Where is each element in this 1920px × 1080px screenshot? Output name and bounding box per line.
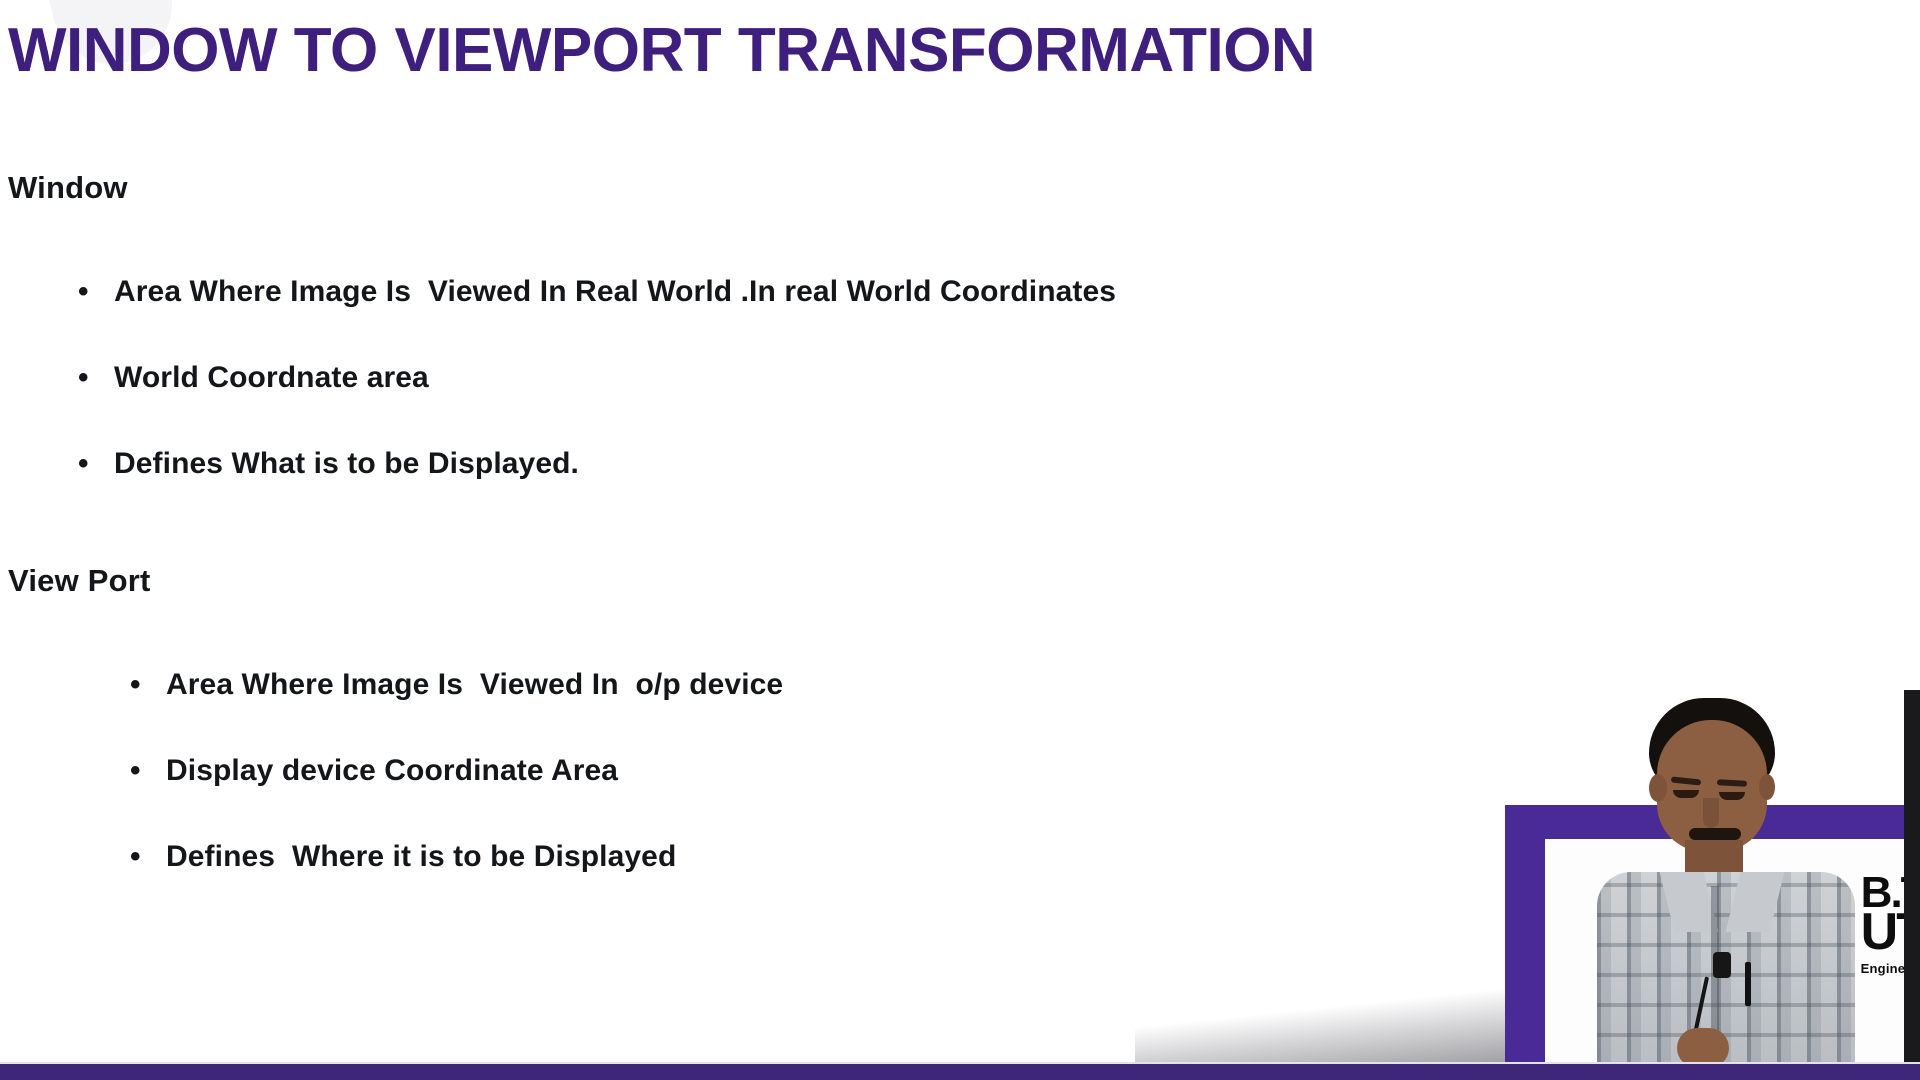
- presenter-nose: [1703, 798, 1719, 828]
- presentation-slide: WINDOW TO VIEWPORT TRANSFORMATION Window…: [0, 0, 1920, 1080]
- section-heading-viewport: View Port: [8, 563, 151, 599]
- bullet-text: Display device Coordinate Area: [166, 754, 618, 788]
- webcam-right-edge: [1904, 690, 1920, 1065]
- list-item: • Area Where Image Is Viewed In o/p devi…: [130, 668, 783, 702]
- presenter-moustache: [1689, 828, 1741, 840]
- list-item: • World Coordnate area: [78, 361, 1116, 395]
- bullet-list-viewport: • Area Where Image Is Viewed In o/p devi…: [130, 668, 783, 926]
- bullet-marker-icon: •: [78, 449, 114, 479]
- presenter-figure: [1593, 690, 1853, 1065]
- bullet-marker-icon: •: [130, 756, 166, 786]
- lapel-microphone-icon: [1713, 952, 1731, 978]
- list-item: • Defines Where it is to be Displayed: [130, 840, 783, 874]
- bullet-text: Area Where Image Is Viewed In Real World…: [114, 275, 1116, 309]
- bullet-marker-icon: •: [78, 363, 114, 393]
- section-heading-window: Window: [8, 170, 128, 206]
- presenter-ear-left: [1649, 774, 1667, 802]
- slide-title: WINDOW TO VIEWPORT TRANSFORMATION: [8, 18, 1548, 83]
- bullet-marker-icon: •: [78, 277, 114, 307]
- list-item: • Area Where Image Is Viewed In Real Wor…: [78, 275, 1116, 309]
- list-item: • Defines What is to be Displayed.: [78, 447, 1116, 481]
- bullet-text: Area Where Image Is Viewed In o/p device: [166, 668, 783, 702]
- list-item: • Display device Coordinate Area: [130, 754, 783, 788]
- webcam-frame-left: [1505, 805, 1545, 1065]
- presenter-eye-left: [1673, 790, 1699, 798]
- bullet-marker-icon: •: [130, 670, 166, 700]
- bullet-text: Defines Where it is to be Displayed: [166, 840, 676, 874]
- presenter-pen: [1745, 962, 1751, 1006]
- presenter-webcam-overlay[interactable]: B.T UT Engineeri: [1505, 690, 1920, 1065]
- bullet-list-window: • Area Where Image Is Viewed In Real Wor…: [78, 275, 1116, 533]
- bullet-text: World Coordnate area: [114, 361, 429, 395]
- bullet-text: Defines What is to be Displayed.: [114, 447, 579, 481]
- presenter-eye-right: [1719, 792, 1745, 800]
- bullet-marker-icon: •: [130, 842, 166, 872]
- presenter-ear-right: [1759, 774, 1775, 800]
- slide-bottom-bar: [0, 1064, 1920, 1080]
